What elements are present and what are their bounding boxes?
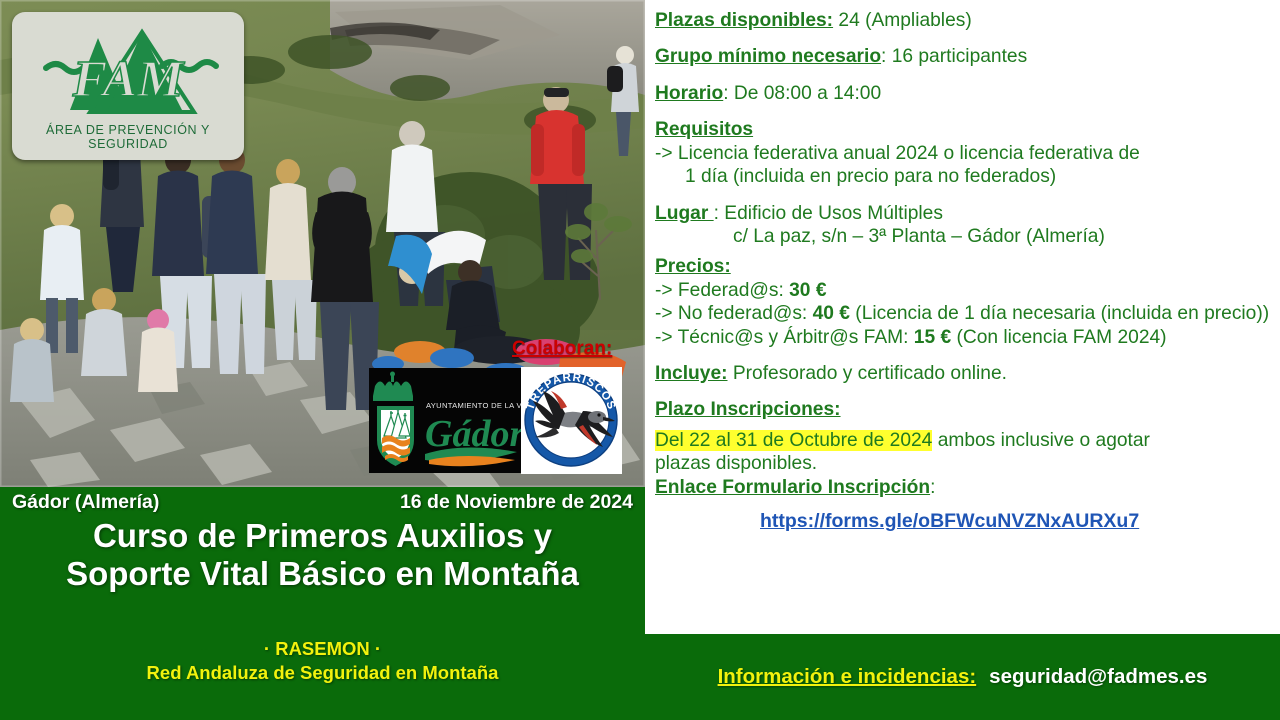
svg-text:FAM: FAM — [72, 51, 186, 108]
plazo-dates-row: Del 22 al 31 de Octubre de 2024 ambos in… — [655, 429, 1272, 452]
horario-row: Horario: De 08:00 a 14:00 — [655, 82, 1272, 105]
incluye-value: Profesorado y certificado online. — [728, 363, 1007, 384]
grupo-label: Grupo mínimo necesario — [655, 46, 881, 67]
poster-root: FAM ÁREA DE PREVENCIÓN Y SEGURIDAD Colab… — [0, 0, 1280, 720]
precio-tecnicos-amount: 15 € — [914, 327, 951, 348]
requisitos-line-2: 1 día (incluida en precio para no federa… — [655, 165, 1272, 188]
course-title-line2: Soporte Vital Básico en Montaña — [0, 555, 645, 593]
banner-location: Gádor (Almería) — [12, 491, 159, 514]
lugar-value: : Edificio de Usos Múltiples — [714, 203, 943, 224]
plazo-dates-line2: plazas disponibles. — [655, 452, 1272, 475]
precio-no-federados: -> No federad@s: 40 € (Licencia de 1 día… — [655, 302, 1272, 325]
collaborators-heading: Colaboran: — [512, 338, 612, 360]
contact-email[interactable]: seguridad@fadmes.es — [989, 665, 1207, 689]
grupo-value: : 16 participantes — [881, 46, 1027, 67]
plazo-heading: Plazo Inscripciones: — [655, 398, 1272, 421]
plazas-value: 24 (Ampliables) — [838, 10, 971, 31]
requisitos-line-1: -> Licencia federativa anual 2024 o lice… — [655, 142, 1272, 165]
inscription-form-link[interactable]: https://forms.gle/oBFWcuNVZNxAURXu7 — [655, 510, 1272, 534]
horario-value: : De 08:00 a 14:00 — [723, 83, 881, 104]
banner-meta-row: Gádor (Almería) 16 de Noviembre de 2024 — [0, 491, 645, 514]
horario-label: Horario — [655, 83, 723, 104]
grupo-row: Grupo mínimo necesario: 16 participantes — [655, 45, 1272, 68]
lugar-row: Lugar : Edificio de Usos Múltiples — [655, 202, 1272, 225]
fam-mountain-icon: FAM — [12, 14, 244, 126]
title-banner: Gádor (Almería) 16 de Noviembre de 2024 … — [0, 487, 645, 720]
gador-townhall-logo: AYUNTAMIENTO DE LA VILLA DE Gádor — [369, 368, 521, 473]
left-column: FAM ÁREA DE PREVENCIÓN Y SEGURIDAD Colab… — [0, 0, 645, 720]
enlace-heading: Enlace Formulario Inscripción: — [655, 476, 1272, 499]
incluye-label: Incluye: — [655, 363, 728, 384]
rasemon-block: · RASEMON · Red Andaluza de Seguridad en… — [0, 637, 645, 686]
plazo-dates-rest: ambos inclusive o agotar — [932, 430, 1150, 451]
precio-tecnicos: -> Técnic@s y Árbitr@s FAM: 15 € (Con li… — [655, 326, 1272, 349]
treparriscos-logo-art: TREPARRISCOS CLUB · DEPORTES · AVENTURA — [521, 367, 622, 474]
rasemon-short: · RASEMON · — [0, 637, 645, 661]
contact-bar: Información e incidencias: seguridad@fad… — [645, 634, 1280, 720]
banner-date: 16 de Noviembre de 2024 — [400, 491, 633, 514]
plazas-row: Plazas disponibles: 24 (Ampliables) — [655, 9, 1272, 32]
incluye-row: Incluye: Profesorado y certificado onlin… — [655, 362, 1272, 385]
plazo-dates-highlight: Del 22 al 31 de Octubre de 2024 — [655, 430, 932, 451]
plazas-label: Plazas disponibles: — [655, 10, 833, 31]
treparriscos-club-logo: TREPARRISCOS CLUB · DEPORTES · AVENTURA — [521, 367, 622, 474]
course-title-line1: Curso de Primeros Auxilios y — [0, 517, 645, 555]
lugar-address: c/ La paz, s/n – 3ª Planta – Gádor (Alme… — [655, 225, 1272, 248]
fam-logo: FAM ÁREA DE PREVENCIÓN Y SEGURIDAD — [12, 12, 244, 160]
contact-label: Información e incidencias: — [718, 665, 977, 689]
precio-federados-amount: 30 € — [789, 280, 826, 301]
lugar-label: Lugar — [655, 203, 714, 224]
precios-heading: Precios: — [655, 255, 1272, 278]
svg-text:AYUNTAMIENTO DE LA VILLA DE: AYUNTAMIENTO DE LA VILLA DE — [426, 401, 521, 410]
precio-no-federados-amount: 40 € — [813, 303, 850, 324]
requisitos-heading: Requisitos — [655, 118, 1272, 141]
fam-subtitle: ÁREA DE PREVENCIÓN Y SEGURIDAD — [12, 123, 244, 151]
rasemon-full: Red Andaluza de Seguridad en Montaña — [0, 661, 645, 685]
precio-federados: -> Federad@s: 30 € — [655, 279, 1272, 302]
details-panel: Plazas disponibles: 24 (Ampliables) Grup… — [645, 0, 1280, 634]
gador-logo-art: AYUNTAMIENTO DE LA VILLA DE Gádor — [369, 368, 521, 473]
course-title: Curso de Primeros Auxilios y Soporte Vit… — [0, 517, 645, 594]
